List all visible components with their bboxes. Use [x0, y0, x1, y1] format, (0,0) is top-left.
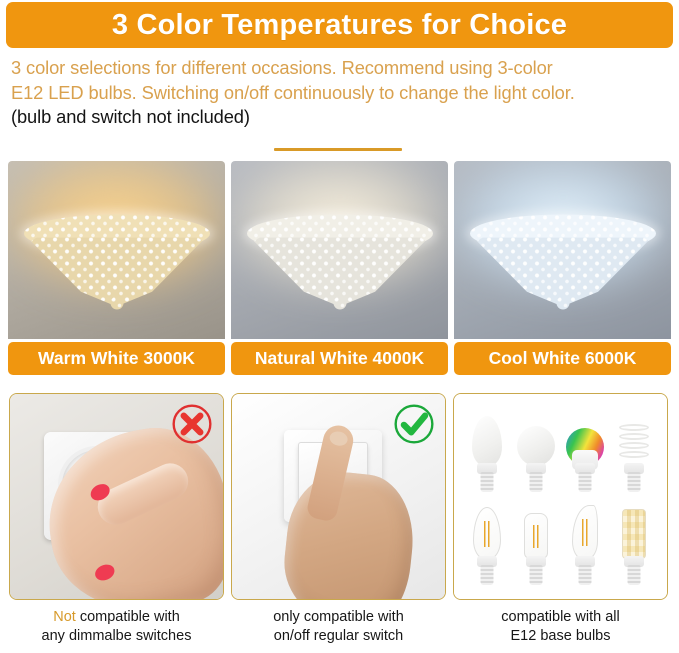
- e12-screw-base: [529, 472, 542, 492]
- color-temperature-card-cool: Cool White 6000K: [454, 161, 671, 375]
- color-temperature-row: Warm White 3000K Natural White 4000K: [8, 161, 671, 375]
- ceiling-light-photo-warm: [8, 161, 225, 339]
- bulb-glass: [472, 416, 502, 466]
- filament: [481, 521, 493, 547]
- page-title: 3 Color Temperatures for Choice: [112, 9, 567, 42]
- caption-line-2: any dimmalbe switches: [9, 627, 224, 646]
- filament-tube-bulb: [513, 501, 559, 585]
- caption-text: compatible with all: [453, 608, 668, 627]
- intro-line-3: (bulb and switch not included): [11, 105, 671, 130]
- bulb-collection-photo: [453, 393, 668, 600]
- bulb-glass: [517, 426, 555, 466]
- color-temperature-label: Warm White 3000K: [8, 342, 225, 375]
- compatibility-caption: Not compatible with any dimmalbe switche…: [9, 608, 224, 645]
- e12-screw-base: [480, 565, 493, 585]
- intro-line-2: E12 LED bulbs. Switching on/off continuo…: [11, 81, 671, 106]
- color-temperature-card-warm: Warm White 3000K: [8, 161, 225, 375]
- intro-line-1: 3 color selections for different occasio…: [11, 56, 671, 81]
- corn-led-bulb: [611, 501, 657, 585]
- bulb-led-body: [622, 509, 646, 559]
- compatibility-row: Not compatible with any dimmalbe switche…: [9, 393, 670, 645]
- intro-paragraph: 3 color selections for different occasio…: [11, 56, 671, 130]
- caption-emphasis: Not: [53, 609, 76, 625]
- compatibility-caption: only compatible with on/off regular swit…: [231, 608, 446, 645]
- candle-led-bulb: [464, 408, 510, 492]
- crystal-flush-mount-light: [247, 198, 433, 310]
- compatibility-card-dimmer: Not compatible with any dimmalbe switche…: [9, 393, 224, 645]
- e12-screw-base: [628, 565, 641, 585]
- filament: [579, 519, 591, 546]
- crystal-flush-mount-light: [24, 198, 210, 310]
- e12-screw-base: [529, 565, 542, 585]
- compatibility-card-bulbs: compatible with all E12 base bulbs: [453, 393, 668, 645]
- rgb-color-changing-bulb: [562, 408, 608, 492]
- color-temperature-card-natural: Natural White 4000K: [231, 161, 448, 375]
- red-x-icon: [170, 402, 214, 446]
- spiral-cfl-bulb: [611, 408, 657, 492]
- light-bottom-finial: [110, 296, 123, 309]
- infographic-page: 3 Color Temperatures for Choice 3 color …: [0, 0, 679, 653]
- bulb-glass: [524, 513, 548, 559]
- crystal-flush-mount-light: [470, 198, 656, 310]
- filament: [530, 525, 542, 548]
- bulb-spiral-tube: [619, 422, 649, 466]
- filament-flame-tip-bulb: [562, 501, 608, 585]
- light-bottom-finial: [333, 296, 346, 309]
- caption-line-2: E12 base bulbs: [453, 627, 668, 646]
- light-bottom-finial: [556, 296, 569, 309]
- color-temperature-label: Cool White 6000K: [454, 342, 671, 375]
- ceiling-light-photo-natural: [231, 161, 448, 339]
- caption-text: only compatible with: [231, 608, 446, 627]
- e12-screw-base: [579, 472, 592, 492]
- dimmer-switch-photo: [9, 393, 224, 600]
- fingernail: [93, 562, 117, 584]
- ceiling-light-photo-cool: [454, 161, 671, 339]
- compatibility-card-rocker: only compatible with on/off regular swit…: [231, 393, 446, 645]
- color-temperature-label: Natural White 4000K: [231, 342, 448, 375]
- bulb-grid: [454, 394, 667, 599]
- filament-candle-bulb: [464, 501, 510, 585]
- bulb-glass: [473, 507, 501, 559]
- rocker-switch-photo: [231, 393, 446, 600]
- bulb-glass: [572, 505, 598, 559]
- caption-line-2: on/off regular switch: [231, 627, 446, 646]
- compatibility-caption: compatible with all E12 base bulbs: [453, 608, 668, 645]
- e12-screw-base: [628, 472, 641, 492]
- green-check-icon: [392, 402, 436, 446]
- e12-screw-base: [579, 565, 592, 585]
- globe-led-bulb: [513, 408, 559, 492]
- header-banner: 3 Color Temperatures for Choice: [6, 2, 673, 48]
- e12-screw-base: [480, 472, 493, 492]
- caption-text: compatible with: [76, 609, 180, 625]
- section-divider: [274, 148, 402, 151]
